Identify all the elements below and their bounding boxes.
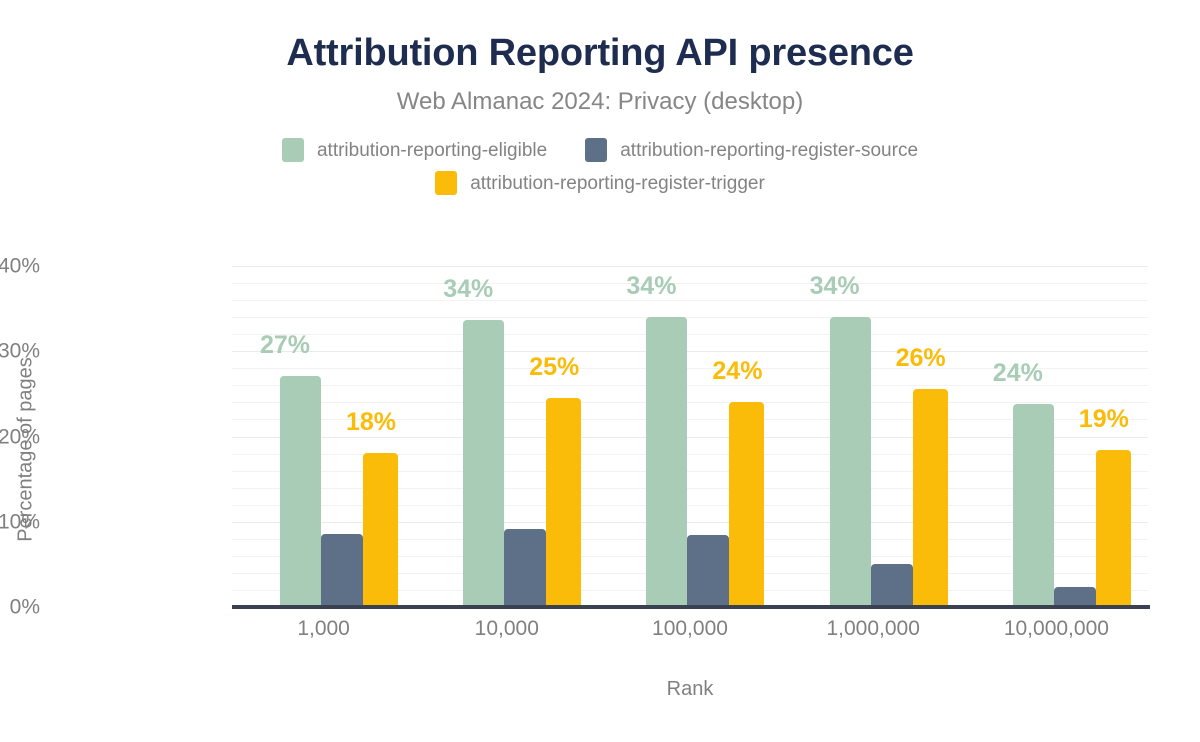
x-axis-tick-label: 10,000 (415, 618, 598, 639)
plot-wrap: 0%10%20%30%40% Percentage of pages 27%18… (0, 0, 1200, 742)
bar[interactable] (830, 317, 871, 607)
x-axis-tick-label: 10,000,000 (965, 618, 1148, 639)
x-axis-title: Rank (232, 678, 1148, 701)
bar-group: 27%18% (232, 266, 415, 607)
bar[interactable] (1013, 404, 1054, 607)
bar-value-label: 34% (810, 274, 860, 299)
bar[interactable] (363, 453, 398, 607)
x-axis-tick-label: 100,000 (598, 618, 781, 639)
bar[interactable] (1096, 450, 1131, 607)
bar[interactable] (913, 389, 948, 607)
bar-group: 34%26% (782, 266, 965, 607)
y-axis-title: Percentage of pages (15, 357, 38, 542)
bar-value-label: 26% (896, 346, 946, 371)
x-axis-tick-label: 1,000 (232, 618, 415, 639)
bar-value-label: 27% (260, 333, 310, 358)
x-axis-tick-label: 1,000,000 (782, 618, 965, 639)
bar-group: 34%24% (598, 266, 781, 607)
bar-group: 24%19% (965, 266, 1148, 607)
bar[interactable] (321, 534, 363, 607)
bar-value-label: 24% (712, 359, 762, 384)
bar-value-label: 19% (1079, 407, 1129, 432)
bar-value-label: 25% (529, 355, 579, 380)
bar[interactable] (546, 398, 581, 607)
bar[interactable] (504, 529, 546, 607)
bar-value-label: 18% (346, 410, 396, 435)
bar-value-label: 34% (443, 277, 493, 302)
bar-value-label: 24% (993, 361, 1043, 386)
x-axis-baseline (232, 605, 1150, 609)
y-axis-tick-label: 40% (0, 256, 40, 277)
bar[interactable] (729, 402, 764, 607)
y-axis-tick-label: 0% (0, 597, 40, 618)
bar-group: 34%25% (415, 266, 598, 607)
bar[interactable] (687, 535, 729, 607)
plot-area: 27%18%34%25%34%24%34%26%24%19% (232, 266, 1148, 607)
bar[interactable] (280, 376, 321, 607)
bar-value-label: 34% (626, 274, 676, 299)
bar[interactable] (463, 320, 504, 607)
bar[interactable] (871, 564, 913, 607)
bar[interactable] (646, 317, 687, 607)
